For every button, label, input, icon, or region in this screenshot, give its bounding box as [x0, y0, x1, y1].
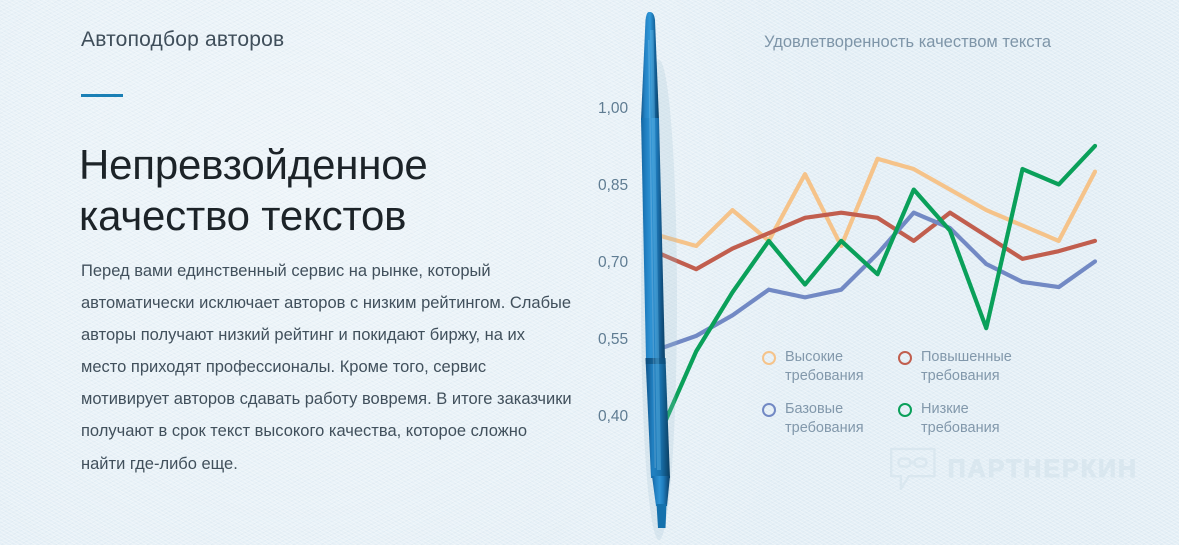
chart-legend: ВысокиетребованияПовышенныетребованияБаз… [762, 348, 1062, 453]
legend-marker-circle-icon [898, 403, 912, 417]
body-paragraph: Перед вами единственный сервис на рынке,… [81, 255, 573, 480]
legend-label: Высокиетребования [785, 348, 864, 386]
legend-marker-circle-icon [762, 403, 776, 417]
watermark-text: ПАРТНЕРКИН [948, 455, 1138, 484]
legend-label: Базовыетребования [785, 400, 864, 438]
speech-bubble-glasses-icon [888, 440, 938, 498]
legend-row: ВысокиетребованияПовышенныетребования [762, 348, 1062, 400]
chart-series-line-2 [660, 213, 1095, 349]
legend-label: Низкиетребования [921, 400, 1000, 438]
page-title: Непревзойденное качество текстов [79, 140, 549, 242]
legend-item[interactable]: Высокиетребования [762, 348, 898, 386]
legend-item[interactable]: Базовыетребования [762, 400, 898, 438]
legend-item[interactable]: Повышенныетребования [898, 348, 1034, 386]
legend-marker-circle-icon [762, 351, 776, 365]
legend-marker-circle-icon [898, 351, 912, 365]
ballpoint-pen-illustration [628, 0, 684, 545]
legend-item[interactable]: Низкиетребования [898, 400, 1034, 438]
accent-rule-divider [81, 94, 123, 97]
watermark: ПАРТНЕРКИН [888, 438, 1138, 500]
legend-label: Повышенныетребования [921, 348, 1012, 386]
hero-text-column: Автоподбор авторов Непревзойденное качес… [0, 0, 600, 545]
chart-series-line-1 [660, 213, 1095, 269]
eyebrow-label: Автоподбор авторов [81, 28, 284, 52]
